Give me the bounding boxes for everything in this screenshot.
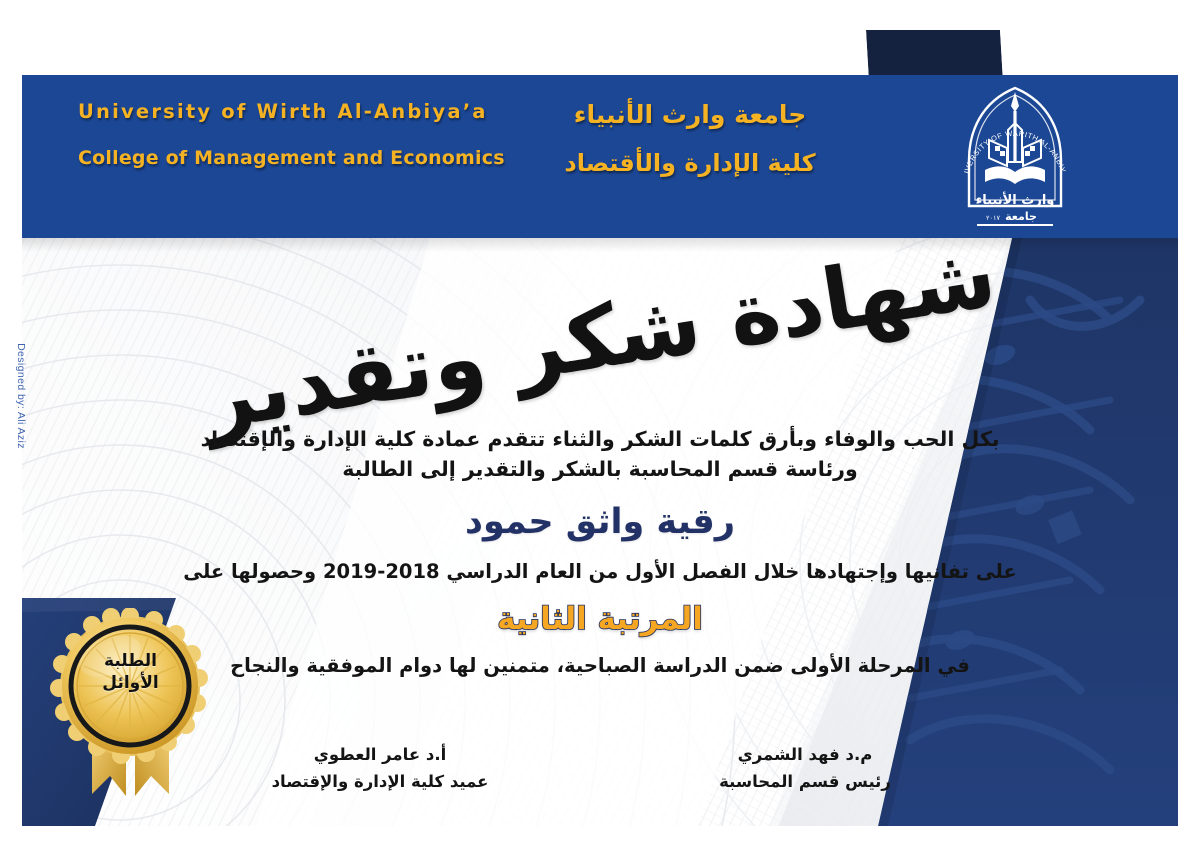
logo-arabic-subtext: جامعة [1005,210,1037,223]
college-name-arabic: كلية الإدارة والأقتصاد [470,145,910,181]
medal-label-line1: الطلبة [48,650,213,672]
signatory-name: م.د فهد الشمري [640,742,970,768]
signature-block-department-head: م.د فهد الشمري رئيس قسم المحاسبة [640,742,970,796]
certificate-page: University of Wirth Al‐Anbiya’a College … [0,0,1200,848]
signatory-name: أ.د عامر العطوي [215,742,545,768]
university-logo: UNIVERSITY OF WARITH AL-ANBIYA'A وارث ال… [955,78,1075,233]
medal-label: الطلبة الأوائل [48,650,213,694]
logo-arabic-text: وارث الأنبياء [976,191,1055,208]
body-paragraph-line2: ورئاسة قسم المحاسبة بالشكر والتقدير إلى … [0,454,1200,484]
body-paragraph-line1: بكل الحب والوفاء وبأرق كلمات الشكر والثن… [0,424,1200,454]
logo-year: ٢٠١٧ [986,214,1000,222]
achievement-line: على تفانيها وإجتهادها خلال الفصل الأول م… [0,558,1200,586]
signature-block-dean: أ.د عامر العطوي عميد كلية الإدارة والإقت… [215,742,545,796]
signatory-role: رئيس قسم المحاسبة [640,768,970,796]
student-name: رقية واثق حمود [0,500,1200,544]
signatory-role: عميد كلية الإدارة والإقتصاد [215,768,545,796]
university-name-arabic: جامعة وارث الأنبياء [470,97,910,133]
gold-medal-seal [48,608,213,803]
header-arabic-block: جامعة وارث الأنبياء كلية الإدارة والأقتص… [470,97,910,181]
medal-label-line2: الأوائل [48,672,213,694]
